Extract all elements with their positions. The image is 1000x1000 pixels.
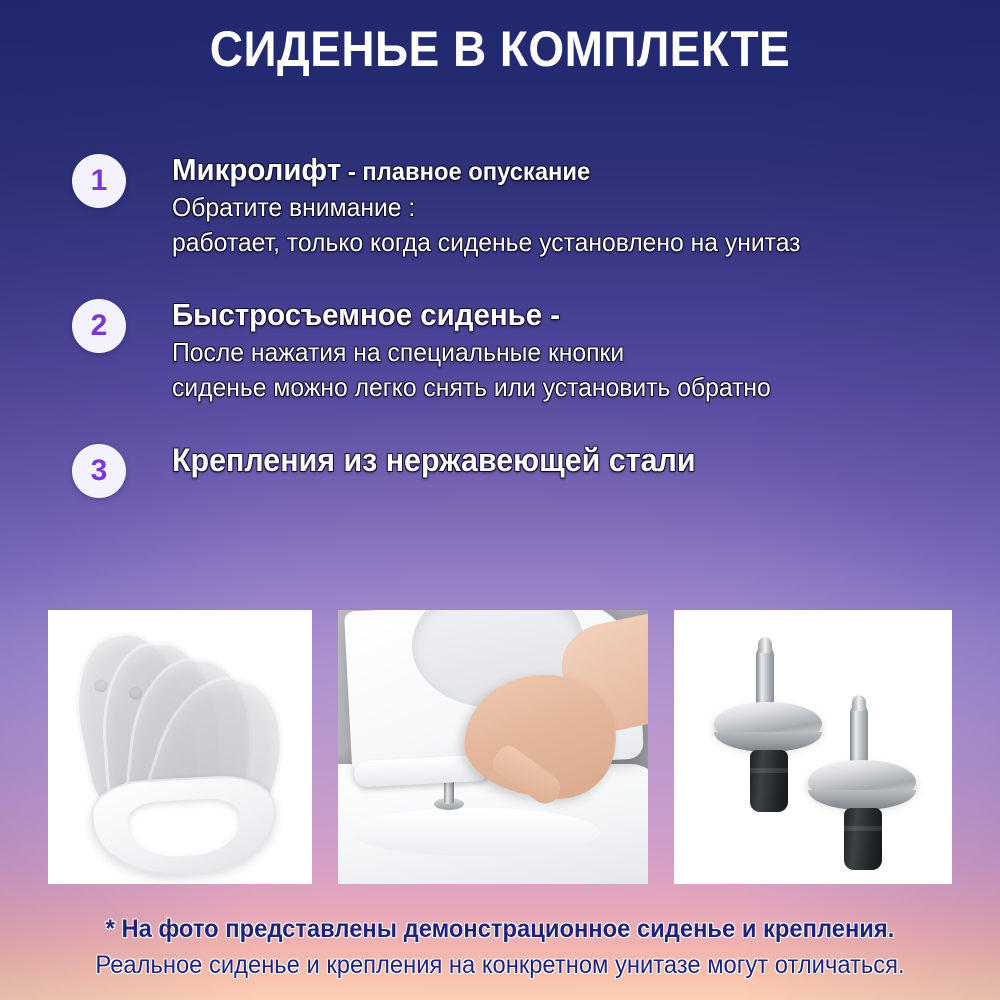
feature-heading-3: Крепления из нержавеющей стали bbox=[172, 440, 696, 482]
photo-soft-close-seat bbox=[48, 610, 312, 884]
seat-ring bbox=[90, 773, 279, 878]
footer-disclaimer: * На фото представлены демонстрационное … bbox=[0, 912, 1000, 983]
photo-stainless-fixings bbox=[674, 610, 952, 884]
feature-heading-main-2: Быстросъемное сиденье - bbox=[172, 297, 560, 332]
feature-number-badge-3: 3 bbox=[72, 444, 126, 498]
fixing-rubber-boot-left bbox=[750, 750, 788, 812]
feature-body-line-2-2: сиденье можно легко снять или установить… bbox=[172, 370, 771, 404]
feature-heading-sub-1: - плавное опускание bbox=[341, 158, 590, 186]
feature-body-line-1-1: Обратите внимание : bbox=[172, 190, 800, 224]
promo-banner: СИДЕНЬЕ В КОМПЛЕКТЕ 1 Микролифт - плавно… bbox=[0, 0, 1000, 1000]
feature-text-3: Крепления из нержавеющей стали bbox=[172, 440, 723, 482]
feature-list: 1 Микролифт - плавное опускание Обратите… bbox=[0, 150, 1000, 493]
feature-heading-1: Микролифт - плавное опускание bbox=[172, 150, 800, 190]
feature-heading-main-1: Микролифт bbox=[172, 152, 341, 187]
feature-heading-main-3: Крепления из нержавеющей стали bbox=[172, 442, 696, 478]
feature-text-1: Микролифт - плавное опускание Обратите в… bbox=[172, 150, 834, 259]
feature-number-badge-2: 2 bbox=[72, 299, 126, 353]
feature-item-3: 3 Крепления из нержавеющей стали bbox=[0, 440, 1000, 482]
footer-line-2: Реальное сиденье и крепления на конкретн… bbox=[25, 948, 975, 984]
feature-number-badge-1: 1 bbox=[72, 154, 126, 208]
feature-item-2: 2 Быстросъемное сиденье - После нажатия … bbox=[0, 295, 1000, 404]
feature-text-2: Быстросъемное сиденье - После нажатия на… bbox=[172, 295, 802, 404]
footer-line-1: * На фото представлены демонстрационное … bbox=[25, 912, 975, 948]
photo-row bbox=[48, 610, 952, 884]
toilet-seat-motion-illustration bbox=[48, 610, 312, 884]
seat-bumper-icon bbox=[93, 678, 108, 693]
feature-heading-2: Быстросъемное сиденье - bbox=[172, 295, 771, 335]
feature-body-line-1-2: работает, только когда сиденье установле… bbox=[172, 225, 800, 259]
fixing-rubber-boot-right bbox=[844, 808, 882, 870]
photo-quick-release bbox=[338, 610, 648, 884]
fixing-rim-right bbox=[808, 790, 916, 810]
page-title: СИДЕНЬЕ В КОМПЛЕКТЕ bbox=[40, 22, 960, 77]
seat-opening bbox=[127, 797, 242, 859]
feature-item-1: 1 Микролифт - плавное опускание Обратите… bbox=[0, 150, 1000, 259]
fixing-right bbox=[804, 704, 934, 884]
seat-bumper-icon bbox=[129, 686, 143, 700]
feature-body-line-2-1: После нажатия на специальные кнопки bbox=[172, 335, 771, 369]
